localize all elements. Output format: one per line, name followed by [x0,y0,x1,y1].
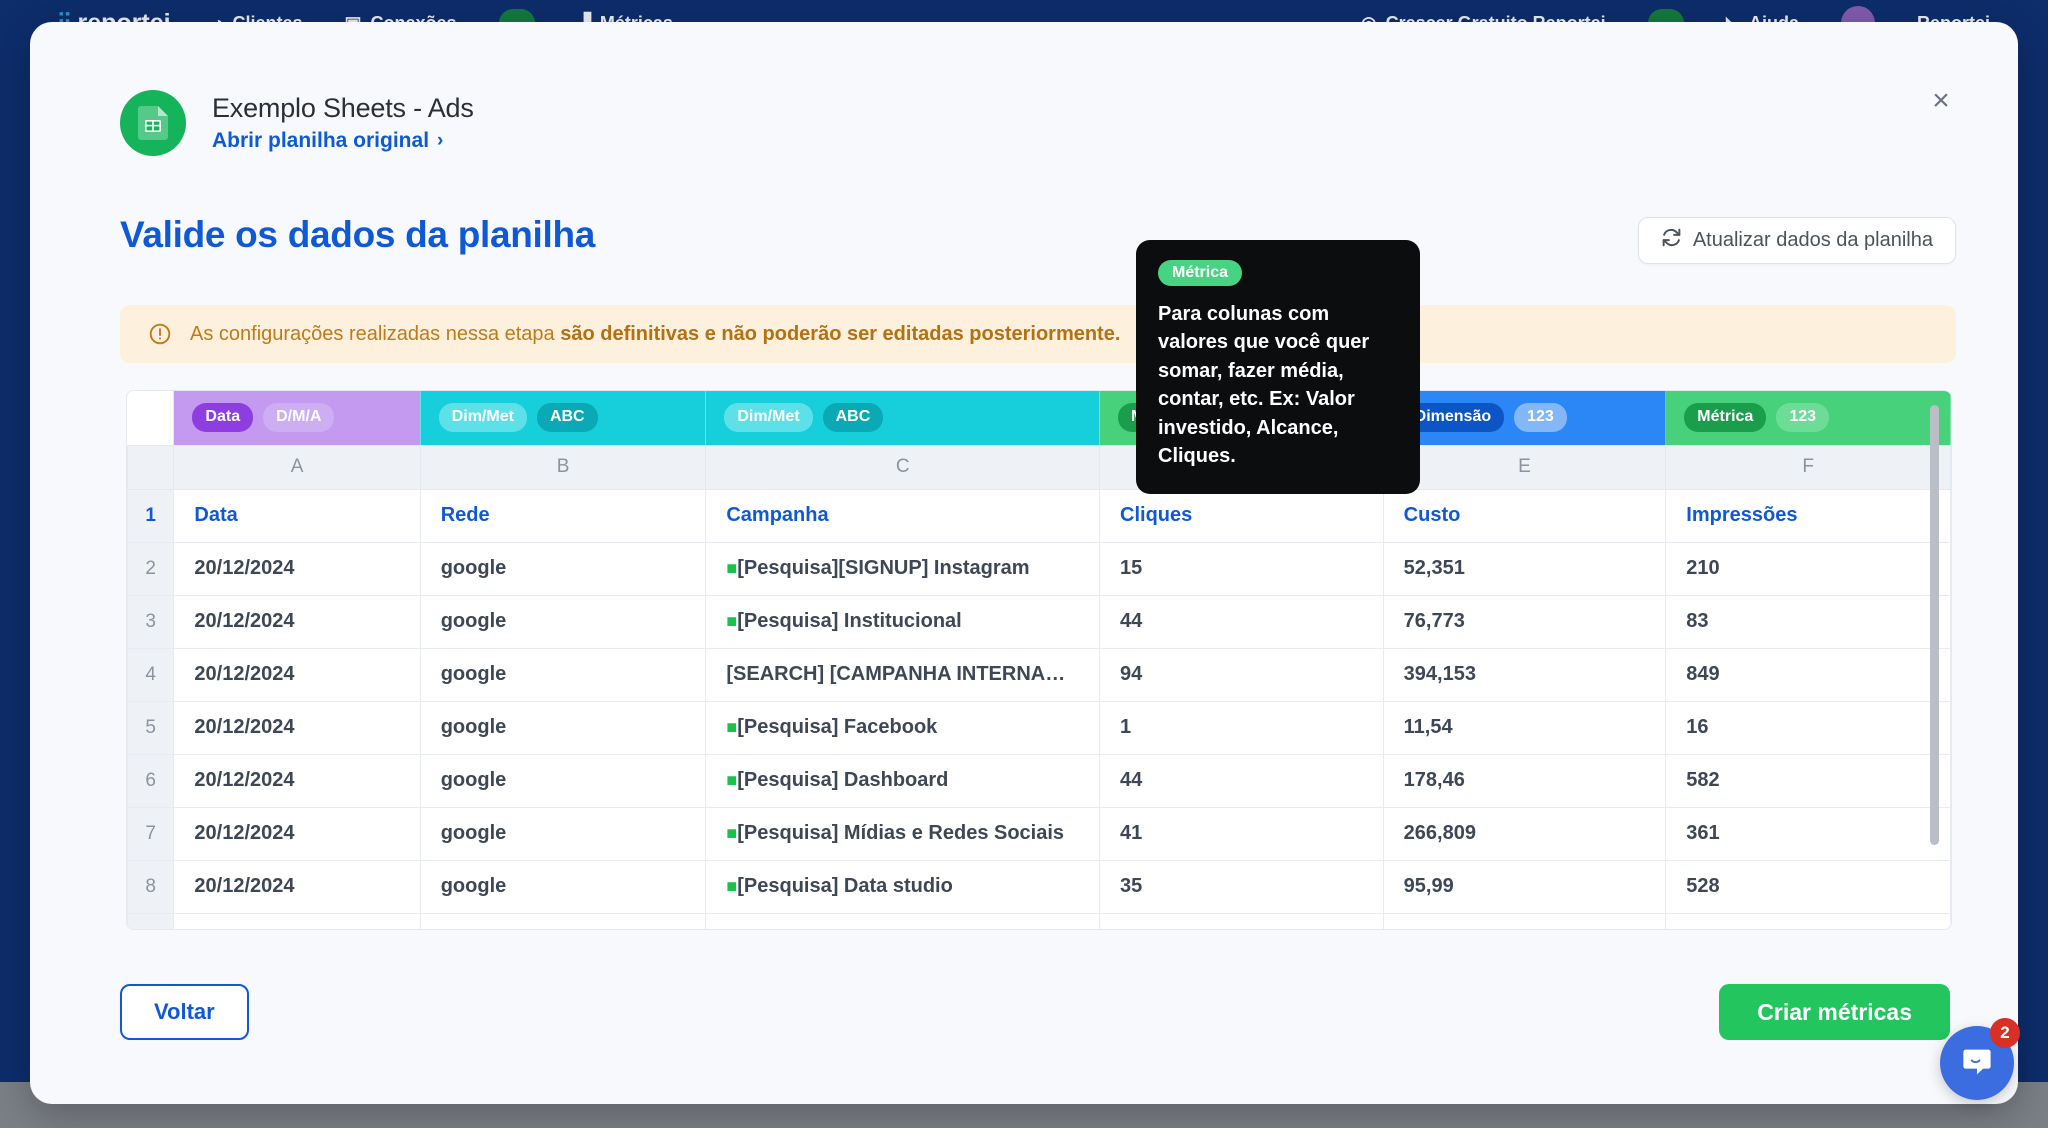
cell-A7[interactable]: 20/12/2024 [174,807,420,860]
corner-cell [128,391,174,445]
cell-D7[interactable]: 41 [1100,807,1384,860]
column-type-row: DataD/M/ADim/MetABCDim/MetABCMétrica123D… [128,391,1951,445]
table-row: 320/12/2024google■[Pesquisa] Institucion… [128,595,1951,648]
table-row: 1DataRedeCampanhaCliquesCustoImpressões [128,489,1951,542]
cell-text: [Pesquisa] Data studio [737,875,953,897]
definitive-settings-alert: As configurações realizadas nessa etapa … [120,305,1956,363]
column-format-badge[interactable]: 123 [1514,403,1567,432]
column-type-badges: Métrica123 [1684,403,1950,432]
row-number[interactable]: 4 [128,648,174,701]
cell-F2[interactable]: 210 [1666,542,1951,595]
create-metrics-button[interactable]: Criar métricas [1719,984,1950,1040]
page-title: Exemplo Sheets - Ads [212,93,474,124]
cell-D4[interactable]: 94 [1100,648,1384,701]
row-number[interactable]: 1 [128,489,174,542]
cell-F4[interactable]: 849 [1666,648,1951,701]
link-label: Abrir planilha original [212,129,429,153]
cell-E9[interactable]: 52,51 [1383,913,1666,930]
cell-E8[interactable]: 95,99 [1383,860,1666,913]
cell-C7[interactable]: ■[Pesquisa] Mídias e Redes Sociais [706,807,1100,860]
corner-cell-letters [128,445,174,489]
cell-D8[interactable]: 35 [1100,860,1384,913]
sheet-grid: DataD/M/ADim/MetABCDim/MetABCMétrica123D… [127,391,1951,930]
cell-B7[interactable]: google [420,807,706,860]
cell-text: [Pesquisa] Institucional [737,610,961,632]
row-number[interactable]: 7 [128,807,174,860]
column-type-primary-badge[interactable]: Dim/Met [439,403,527,432]
column-type-cell-b[interactable]: Dim/MetABC [420,391,706,445]
cell-text: [Pesquisa][SIGNUP] Instagram [737,557,1029,579]
column-letter-f[interactable]: F [1666,445,1951,489]
cell-text: [Pesquisa] Dashboard [737,769,948,791]
column-type-primary-badge[interactable]: Dim/Met [724,403,812,432]
validate-heading: Valide os dados da planilha [120,214,595,256]
cell-A5[interactable]: 20/12/2024 [174,701,420,754]
cell-E6[interactable]: 178,46 [1383,754,1666,807]
cell-A6[interactable]: 20/12/2024 [174,754,420,807]
cell-C2[interactable]: ■[Pesquisa][SIGNUP] Instagram [706,542,1100,595]
cell-B6[interactable]: google [420,754,706,807]
cell-C3[interactable]: ■[Pesquisa] Institucional [706,595,1100,648]
green-square-icon: ■ [726,876,737,896]
cell-D1[interactable]: Cliques [1100,489,1384,542]
chat-bubble-icon [1960,1044,1994,1083]
column-type-cell-e[interactable]: Dimensão123 [1383,391,1666,445]
column-format-badge[interactable]: D/M/A [263,403,334,432]
cell-D6[interactable]: 44 [1100,754,1384,807]
cell-E7[interactable]: 266,809 [1383,807,1666,860]
column-type-badges: Dim/MetABC [439,403,706,432]
alert-text-bold: são definitivas e não poderão ser editad… [560,323,1120,345]
column-type-badges: Dim/MetABC [724,403,1099,432]
column-type-badges: Dimensão123 [1402,403,1666,432]
cell-E1[interactable]: Custo [1383,489,1666,542]
cell-text: [Pesquisa] Facebook [737,716,937,738]
cell-B4[interactable]: google [420,648,706,701]
tooltip-text: Para colunas com valores que você quer s… [1158,300,1398,470]
refresh-sheet-data-button[interactable]: Atualizar dados da planilha [1638,217,1956,264]
cell-F9[interactable]: 45 [1666,913,1951,930]
cell-B9[interactable]: google [420,913,706,930]
chat-unread-badge: 2 [1990,1018,2020,1048]
cell-A3[interactable]: 20/12/2024 [174,595,420,648]
cell-D2[interactable]: 15 [1100,542,1384,595]
sheet-header: Exemplo Sheets - Ads Abrir planilha orig… [120,90,474,156]
cell-B2[interactable]: google [420,542,706,595]
google-sheets-icon [120,90,186,156]
vertical-scrollbar-track[interactable] [1936,395,1945,925]
back-button[interactable]: Voltar [120,984,249,1040]
table-row: 420/12/2024google[SEARCH] [CAMPANHA INTE… [128,648,1951,701]
row-number[interactable]: 6 [128,754,174,807]
column-format-badge[interactable]: ABC [823,403,884,432]
cell-D5[interactable]: 1 [1100,701,1384,754]
metric-tooltip: Métrica Para colunas com valores que voc… [1136,240,1420,494]
cell-A9[interactable]: 20/12/2024 [174,913,420,930]
column-letter-a[interactable]: A [174,445,420,489]
alert-text-normal: As configurações realizadas nessa etapa [190,323,560,345]
row-number[interactable]: 3 [128,595,174,648]
table-row: 720/12/2024google■[Pesquisa] Mídias e Re… [128,807,1951,860]
open-original-sheet-link[interactable]: Abrir planilha original › [212,129,474,153]
green-square-icon: ■ [726,823,737,843]
cell-D3[interactable]: 44 [1100,595,1384,648]
cell-F6[interactable]: 582 [1666,754,1951,807]
table-row: 520/12/2024google■[Pesquisa] Facebook111… [128,701,1951,754]
cell-B1[interactable]: Rede [420,489,706,542]
cell-C5[interactable]: ■[Pesquisa] Facebook [706,701,1100,754]
column-type-cell-f[interactable]: Métrica123 [1666,391,1951,445]
cell-B3[interactable]: google [420,595,706,648]
column-letter-row: ABCDEF [128,445,1951,489]
column-letter-b[interactable]: B [420,445,706,489]
cell-F8[interactable]: 528 [1666,860,1951,913]
chevron-right-icon: › [437,130,443,152]
column-type-primary-badge[interactable]: Data [192,403,253,432]
refresh-button-label: Atualizar dados da planilha [1693,229,1933,252]
cell-A2[interactable]: 20/12/2024 [174,542,420,595]
cell-E5[interactable]: 11,54 [1383,701,1666,754]
cell-A8[interactable]: 20/12/2024 [174,860,420,913]
green-square-icon: ■ [726,717,737,737]
cell-E3[interactable]: 76,773 [1383,595,1666,648]
green-square-icon: ■ [726,611,737,631]
column-type-cell-c[interactable]: Dim/MetABC [706,391,1100,445]
column-type-badges: DataD/M/A [192,403,419,432]
cell-F5[interactable]: 16 [1666,701,1951,754]
table-row: 220/12/2024google■[Pesquisa][SIGNUP] Ins… [128,542,1951,595]
cell-text: [Pesquisa] LinkedIn [737,928,926,930]
cell-D9[interactable]: 5 [1100,913,1384,930]
green-square-icon: ■ [726,558,737,578]
column-letter-e[interactable]: E [1383,445,1666,489]
row-number[interactable]: 2 [128,542,174,595]
vertical-scrollbar-thumb[interactable] [1930,405,1939,845]
column-type-cell-a[interactable]: DataD/M/A [174,391,420,445]
cell-A1[interactable]: Data [174,489,420,542]
close-icon[interactable]: × [1924,84,1958,118]
row-number[interactable]: 9 [128,913,174,930]
validate-sheet-modal: × Exemplo Sheets - Ads Abrir planilha or… [30,22,2018,1104]
green-square-icon: ■ [726,929,737,930]
cell-B5[interactable]: google [420,701,706,754]
row-number[interactable]: 8 [128,860,174,913]
table-row: 820/12/2024google■[Pesquisa] Data studio… [128,860,1951,913]
cell-F7[interactable]: 361 [1666,807,1951,860]
refresh-icon [1661,227,1682,254]
column-format-badge[interactable]: ABC [537,403,598,432]
column-type-primary-badge[interactable]: Métrica [1684,403,1766,432]
cell-B8[interactable]: google [420,860,706,913]
cell-A4[interactable]: 20/12/2024 [174,648,420,701]
cell-E2[interactable]: 52,351 [1383,542,1666,595]
cell-F1[interactable]: Impressões [1666,489,1951,542]
sheet-grid-body: 1DataRedeCampanhaCliquesCustoImpressões2… [128,489,1951,930]
column-format-badge[interactable]: 123 [1776,403,1829,432]
table-row: 920/12/2024google■[Pesquisa] LinkedIn552… [128,913,1951,930]
cell-C9[interactable]: ■[Pesquisa] LinkedIn [706,913,1100,930]
column-letter-c[interactable]: C [706,445,1100,489]
cell-E4[interactable]: 394,153 [1383,648,1666,701]
cell-C4[interactable]: [SEARCH] [CAMPANHA INTERNACIONA… [706,648,1100,701]
cell-F3[interactable]: 83 [1666,595,1951,648]
sheet-preview-table[interactable]: DataD/M/ADim/MetABCDim/MetABCMétrica123D… [126,390,1952,930]
cell-text: [Pesquisa] Mídias e Redes Sociais [737,822,1064,844]
cell-C8[interactable]: ■[Pesquisa] Data studio [706,860,1100,913]
alert-text: As configurações realizadas nessa etapa … [190,323,1120,346]
cell-C6[interactable]: ■[Pesquisa] Dashboard [706,754,1100,807]
alert-circle-icon [148,322,172,346]
row-number[interactable]: 5 [128,701,174,754]
green-square-icon: ■ [726,770,737,790]
table-row: 620/12/2024google■[Pesquisa] Dashboard44… [128,754,1951,807]
cell-C1[interactable]: Campanha [706,489,1100,542]
tooltip-tag: Métrica [1158,260,1242,286]
